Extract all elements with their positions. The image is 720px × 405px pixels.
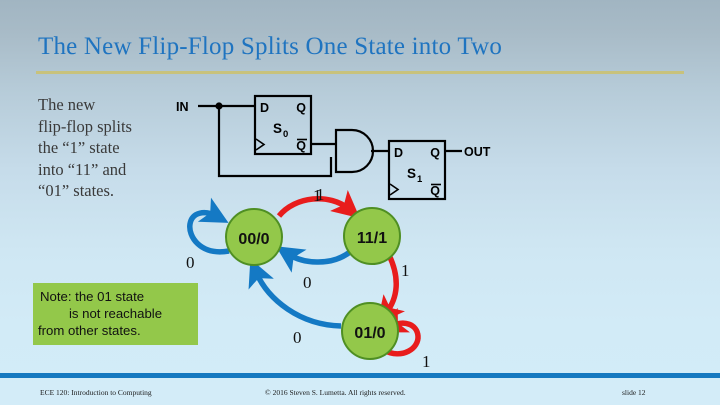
edge-label-s01-to-s00: 0 [293, 328, 302, 347]
flipflop-s0-subscript: 0 [283, 129, 288, 140]
flipflop-s1-name: S [407, 166, 416, 181]
flipflop-s0-q-label: Q [296, 101, 306, 115]
edge-label-s00-to-s11: 1 [313, 186, 322, 205]
state-diagram-edge-labels: 0 1 0 1 0 1 [186, 186, 431, 371]
edge-s00-to-s11-one [279, 199, 349, 216]
body-paragraph: The new flip-flop splits the “1” state i… [38, 94, 188, 202]
title-divider [36, 71, 684, 74]
flipflop-s1-subscript: 1 [417, 174, 423, 185]
edge-label-s11-to-s01: 1 [401, 261, 410, 280]
state-diagram-nodes: 00/0 11/1 01/0 [226, 208, 400, 359]
flipflop-s0-d-label: D [260, 101, 269, 115]
footer-divider-bar [0, 373, 720, 378]
footer-slide-number: slide 12 [622, 388, 646, 397]
footer-course-label: ECE 120: Introduction to Computing [40, 388, 152, 397]
edge-s11-to-s01-one [386, 255, 396, 313]
circuit-constant-one-label: 1 [316, 185, 325, 204]
state-node-00-0-label: 00/0 [238, 231, 269, 248]
state-node-00-0[interactable] [226, 209, 282, 265]
edge-label-s00-self: 0 [186, 253, 195, 272]
slide-canvas: The New Flip-Flop Splits One State into … [0, 0, 720, 405]
note-line-3: from other states. [37, 322, 194, 339]
body-line-4: into “11” and [38, 159, 188, 181]
body-line-2: flip-flop splits [38, 116, 188, 138]
flipflop-s1: D Q Q S 1 [389, 141, 445, 199]
edge-label-s11-to-s00: 0 [303, 273, 312, 292]
wire-feedback-to-and [219, 106, 331, 176]
footer-copyright-label: © 2016 Steven S. Lumetta. All rights res… [265, 388, 406, 397]
flipflop-s0: D Q Q S 0 [255, 96, 311, 154]
flipflop-s0-name: S [273, 121, 282, 136]
edge-s01-to-s00-zero [256, 272, 341, 326]
flipflop-s1-d-label: D [394, 146, 403, 160]
state-diagram-edges [190, 199, 418, 354]
flipflop-s0-box [255, 96, 311, 154]
body-line-3: the “1” state [38, 137, 188, 159]
state-node-01-0[interactable] [342, 303, 398, 359]
note-line-2: is not reachable [37, 305, 194, 322]
edge-s11-to-s00-zero [288, 252, 350, 262]
flipflop-s1-clock-triangle-icon [390, 184, 398, 195]
page-title: The New Flip-Flop Splits One State into … [38, 33, 502, 61]
and-gate-icon [336, 130, 373, 172]
flipflop-s0-qbar-label: Q [296, 139, 306, 153]
edge-label-s01-self: 1 [422, 352, 431, 371]
edge-s00-self-zero [190, 213, 229, 252]
flipflop-s1-q-label: Q [430, 146, 440, 160]
body-line-5: “01” states. [38, 180, 188, 202]
circuit-wires [198, 106, 462, 176]
note-callout: Note: the 01 state is not reachable from… [33, 283, 198, 345]
circuit-output-label: OUT [464, 145, 491, 159]
body-line-1: The new [38, 94, 188, 116]
state-node-11-1[interactable] [344, 208, 400, 264]
state-node-01-0-label: 01/0 [354, 325, 385, 342]
flipflop-s0-clock-triangle-icon [256, 139, 264, 150]
state-node-11-1-label: 11/1 [357, 230, 387, 247]
flipflop-s1-box [389, 141, 445, 199]
note-line-1: Note: the 01 state [37, 288, 194, 305]
flipflop-s1-qbar-label: Q [430, 184, 440, 198]
edge-s01-self-one [383, 323, 418, 353]
wire-junction-dot [215, 102, 222, 109]
